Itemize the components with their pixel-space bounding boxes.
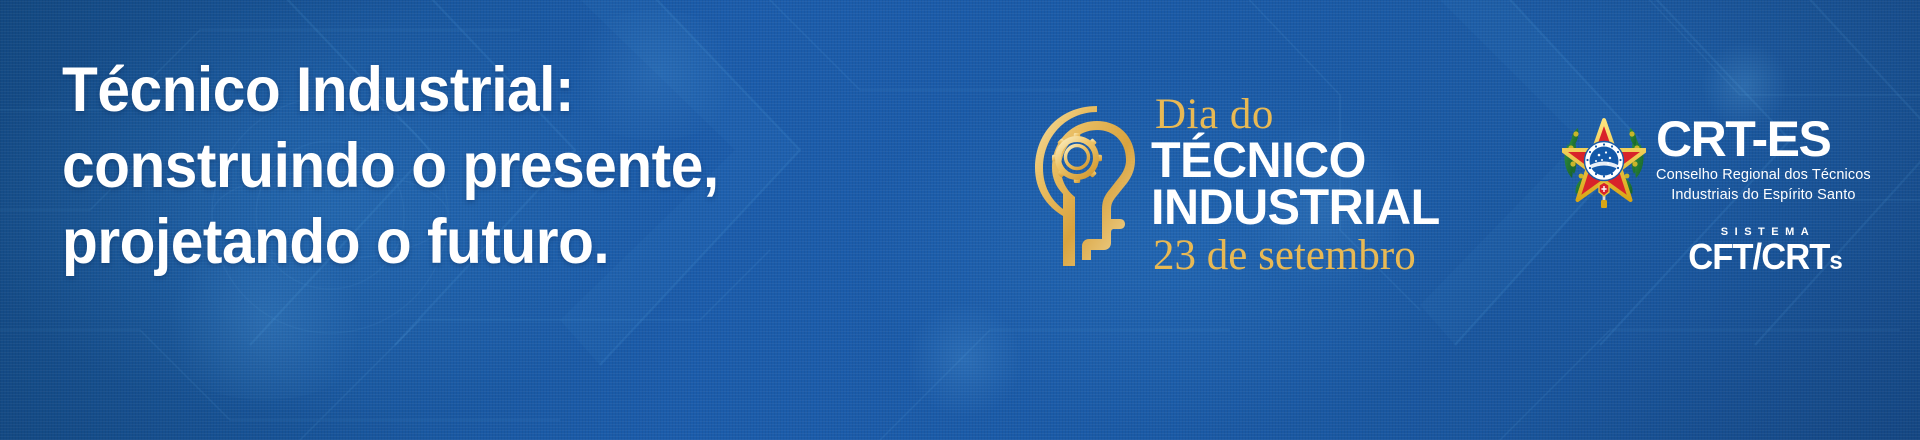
- dia-logo-title-line-2: INDUSTRIAL: [1151, 184, 1440, 231]
- headline-line-2: construindo o presente,: [62, 128, 719, 204]
- cft-crts-name: CFT/CRTs: [1653, 238, 1878, 280]
- head-profile-gear-lightbulb-icon: [1035, 106, 1147, 266]
- headline-line-3: projetando o futuro.: [62, 204, 719, 280]
- cft-crts-main: CFT/CRT: [1688, 236, 1829, 277]
- dia-logo-title-line-1: TÉCNICO: [1151, 137, 1366, 184]
- dia-do-tecnico-industrial-logo: Dia do TÉCNICO INDUSTRIAL 23 de setembro: [1035, 92, 1449, 280]
- sistema-cft-crts-logo: SISTEMA CFT/CRTs: [1562, 226, 1882, 280]
- crt-logo-top-row: CRT-ES Conselho Regional dos Técnicos In…: [1562, 112, 1882, 210]
- banner-root: Técnico Industrial: construindo o presen…: [0, 0, 1920, 440]
- dia-logo-text: Dia do TÉCNICO INDUSTRIAL 23 de setembro: [1151, 94, 1449, 280]
- crt-logo-subtitle-line-2: Industriais do Espírito Santo: [1656, 187, 1871, 204]
- crt-es-logo: CRT-ES Conselho Regional dos Técnicos In…: [1562, 112, 1882, 280]
- crt-logo-name: CRT-ES: [1656, 114, 1871, 164]
- brazil-coat-of-arms-icon: [1562, 114, 1646, 210]
- headline: Técnico Industrial: construindo o presen…: [62, 52, 768, 280]
- crt-logo-subtitle-line-1: Conselho Regional dos Técnicos: [1656, 167, 1871, 184]
- dia-logo-date: 23 de setembro: [1153, 232, 1416, 280]
- glow-blob: [905, 300, 1025, 420]
- crt-logo-text: CRT-ES Conselho Regional dos Técnicos In…: [1656, 112, 1871, 204]
- cft-crts-suffix: s: [1829, 247, 1841, 275]
- headline-line-1: Técnico Industrial:: [62, 52, 719, 128]
- dia-logo-eyebrow: Dia do: [1155, 94, 1274, 136]
